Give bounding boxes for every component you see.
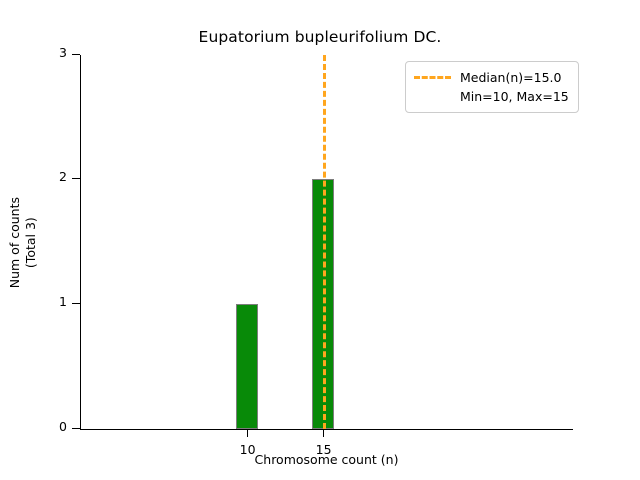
legend-label-median: Median(n)=15.0 bbox=[460, 70, 561, 85]
y-tick-label-1: 1 bbox=[59, 294, 67, 309]
legend-label-minmax: Min=10, Max=15 bbox=[460, 89, 569, 104]
chart-figure: Eupatorium bupleurifolium DC. Num of cou… bbox=[0, 0, 640, 480]
blank-handle-icon bbox=[414, 95, 451, 98]
legend-entry-minmax: Min=10, Max=15 bbox=[414, 87, 569, 106]
x-tick-15: 15 bbox=[323, 429, 324, 437]
dashed-line-icon bbox=[414, 76, 451, 79]
y-axis-label: Num of counts (Total 3) bbox=[14, 55, 32, 430]
y-tick-label-2: 2 bbox=[59, 169, 67, 184]
y-tick-1: 1 bbox=[72, 303, 80, 304]
x-tick-10: 10 bbox=[247, 429, 248, 437]
plot-area: 0 1 2 3 10 15 Median(n)=15.0 bbox=[80, 55, 573, 430]
y-axis-label-line2: (Total 3) bbox=[23, 197, 39, 288]
x-axis-label: Chromosome count (n) bbox=[80, 452, 573, 467]
y-tick-label-3: 3 bbox=[59, 45, 67, 60]
y-tick-label-0: 0 bbox=[59, 419, 67, 434]
y-axis-label-line1: Num of counts bbox=[7, 197, 22, 288]
chart-title: Eupatorium bupleurifolium DC. bbox=[0, 28, 640, 46]
legend-entry-median: Median(n)=15.0 bbox=[414, 68, 569, 87]
median-line bbox=[323, 55, 326, 429]
y-tick-0: 0 bbox=[72, 428, 80, 429]
y-tick-3: 3 bbox=[72, 54, 80, 55]
y-tick-2: 2 bbox=[72, 178, 80, 179]
bar-10 bbox=[236, 304, 258, 429]
chart-legend: Median(n)=15.0 Min=10, Max=15 bbox=[405, 61, 579, 113]
